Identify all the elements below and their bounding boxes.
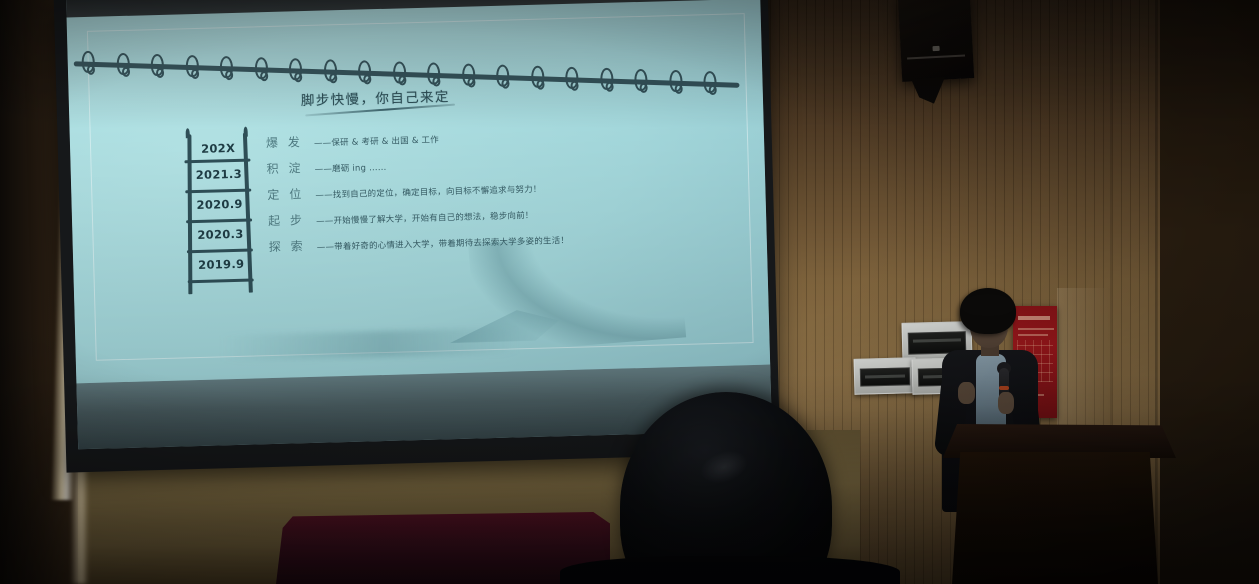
projection-screen: 脚步快慢，你自己来定 202X2021.32020.92020.32019.9 …: [66, 0, 772, 449]
ladder-year-label: 2019.9: [191, 257, 251, 273]
curtain-hook-icon: [427, 62, 441, 84]
ladder-rail-cap: [244, 127, 248, 137]
ladder-graphic: 202X2021.32020.92020.32019.9: [182, 132, 258, 294]
presenter-hand-right: [998, 392, 1014, 414]
stage-key: 定 位: [267, 185, 304, 203]
curtain-hook-icon: [669, 70, 683, 92]
curtain-hook-icon: [392, 61, 406, 83]
presenter-hand-left: [958, 382, 975, 404]
podium-body: [952, 452, 1158, 584]
stage-key: 起 步: [268, 211, 305, 229]
ladder-rung: [187, 249, 253, 254]
ladder-rung: [188, 278, 254, 283]
microphone-band: [999, 386, 1009, 390]
curtain-hook-icon: [531, 66, 545, 88]
stage-description: ——保研 & 考研 & 出国 & 工作: [314, 133, 439, 148]
ladder-rung: [184, 159, 250, 164]
curtain-hook-icon: [461, 63, 475, 85]
curtain-hook-icon: [185, 55, 199, 77]
presentation-slide: 脚步快慢，你自己来定 202X2021.32020.92020.32019.9 …: [67, 0, 771, 383]
curtain-hook-icon: [358, 60, 372, 82]
curtain-hook-icon: [634, 69, 648, 91]
presenter-hair-fringe: [962, 294, 1014, 316]
ladder-year-label: 2020.9: [189, 197, 249, 213]
curtain-hook-icon: [116, 52, 130, 74]
ladder-year-label: 2021.3: [189, 167, 249, 183]
speaker-grille-line: [907, 55, 965, 60]
speaker-led: [932, 46, 939, 51]
lecture-hall-photo: 脚步快慢，你自己来定 202X2021.32020.92020.32019.9 …: [0, 0, 1259, 584]
ladder-year-label: 202X: [188, 141, 248, 157]
stage-key: 积 淀: [266, 159, 303, 177]
wall-door-panel: [1057, 288, 1110, 438]
curtain-hook-icon: [496, 65, 510, 87]
stage-description: ——磨砺 ing ......: [315, 161, 387, 175]
curtain-hook-icon: [703, 71, 717, 93]
ladder-rail-cap: [186, 128, 190, 138]
stage-description: ——找到自己的定位，确定目标，向目标不懈追求与努力！: [315, 183, 541, 201]
stage-description: ——带着好奇的心情进入大学，带着期待去探索大学多姿的生活！: [317, 234, 570, 253]
wall-groove: [1155, 0, 1157, 584]
curtain-hook-icon: [323, 59, 337, 81]
curtain-hook-icon: [81, 51, 95, 73]
audience-shoulder-silhouette: [560, 556, 900, 584]
stage-key: 爆 发: [266, 133, 303, 151]
curtain-hook-icon: [151, 53, 165, 75]
ladder-rung: [186, 219, 252, 224]
curtain-hook-icon: [565, 67, 579, 89]
ladder-year-label: 2020.3: [190, 227, 250, 243]
ceiling-speaker-icon: [898, 0, 974, 82]
curtain-hook-icon: [600, 68, 614, 90]
stage-key: 探 索: [269, 237, 306, 255]
curtain-hook-icon: [254, 57, 268, 79]
stage-list: 爆 发——保研 & 考研 & 出国 & 工作积 淀——磨砺 ing ......…: [266, 121, 739, 264]
stage-description: ——开始慢慢了解大学，开始有自己的想法，稳步向前！: [316, 209, 534, 227]
curtain-hook-icon: [220, 56, 234, 78]
right-wall-dark-edge: [1160, 0, 1259, 584]
ladder-rung: [185, 189, 251, 194]
curtain-hook-icon: [289, 58, 303, 80]
wall-electrical-panel: [854, 357, 917, 395]
